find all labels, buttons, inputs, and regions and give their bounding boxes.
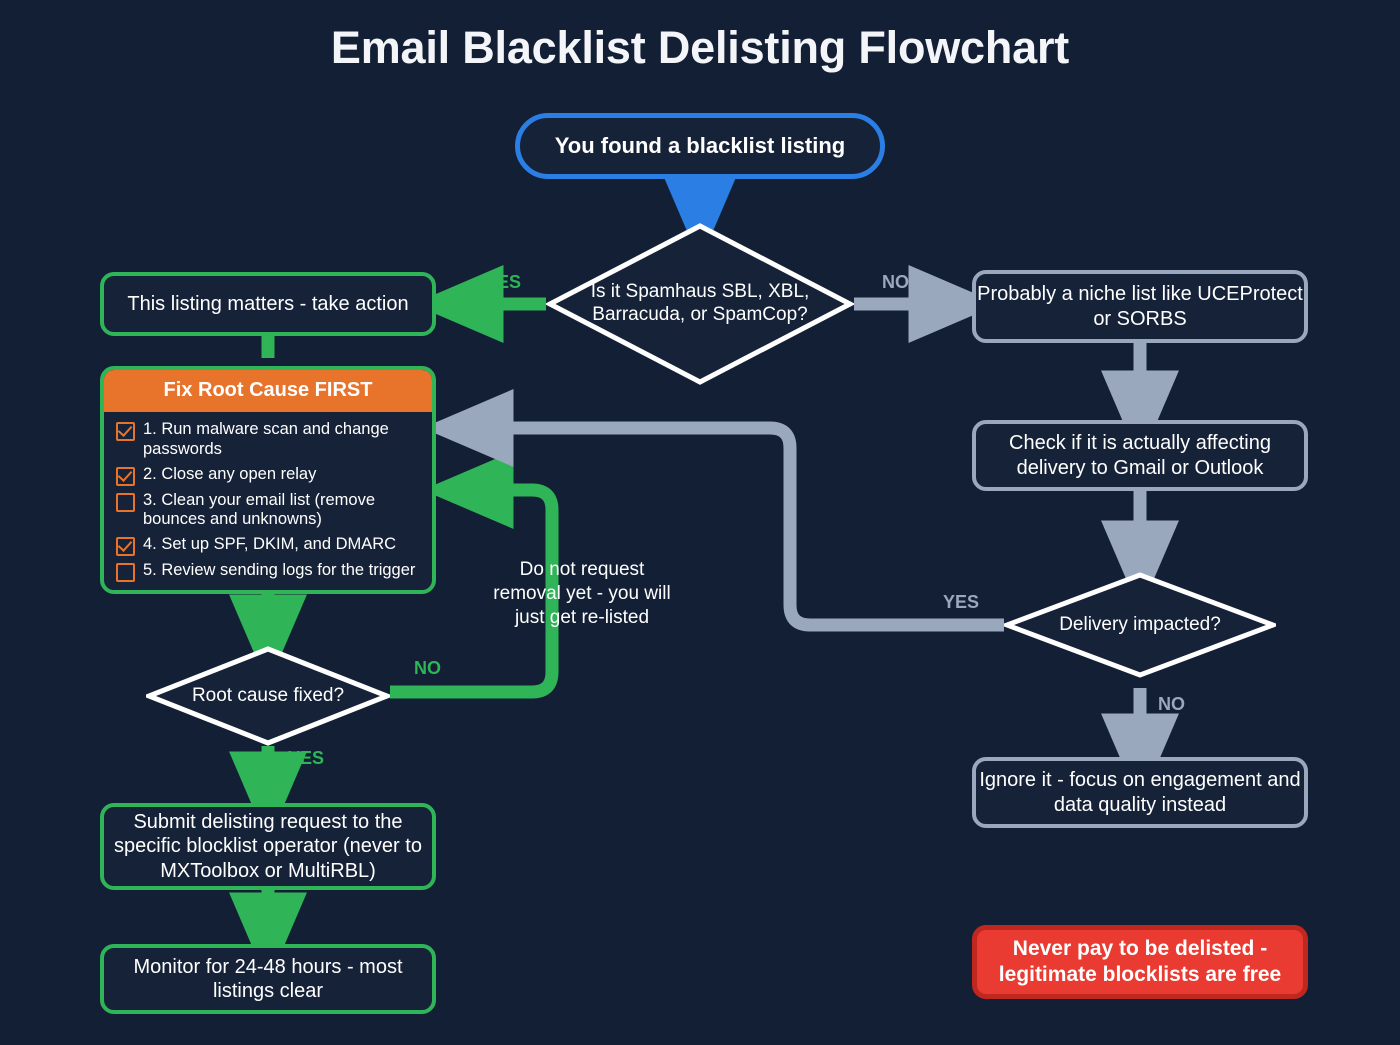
edge-label-delivery-yes: YES [943, 592, 979, 613]
node-monitor[interactable]: Monitor for 24-48 hours - most listings … [100, 944, 436, 1014]
checklist-item[interactable]: 5. Review sending logs for the trigger [116, 561, 422, 582]
node-warning-label: Never pay to be delisted - legitimate bl… [977, 936, 1303, 987]
node-niche-list[interactable]: Probably a niche list like UCEProtect or… [972, 270, 1308, 343]
checkbox-checked-icon[interactable] [116, 537, 135, 556]
decision-delivery-impacted[interactable]: Delivery impacted? [1004, 572, 1276, 678]
checkbox-unchecked-icon[interactable] [116, 493, 135, 512]
edge-label-major-yes: YES [485, 272, 521, 293]
node-submit-delisting[interactable]: Submit delisting request to the specific… [100, 803, 436, 890]
checkbox-unchecked-icon[interactable] [116, 563, 135, 582]
node-monitor-label: Monitor for 24-48 hours - most listings … [104, 955, 432, 1004]
edge-label-major-no: NO [882, 272, 909, 293]
node-start-label: You found a blacklist listing [555, 133, 846, 160]
edge-label-rootcause-no: NO [414, 658, 441, 679]
flowchart-canvas: Email Blacklist Delisting Flowchart [0, 0, 1400, 1045]
checklist-body: 1. Run malware scan and change passwords… [104, 412, 432, 594]
checklist-item[interactable]: 3. Clean your email list (remove bounces… [116, 491, 422, 531]
checkbox-checked-icon[interactable] [116, 467, 135, 486]
decision-root-cause[interactable]: Root cause fixed? [146, 646, 390, 746]
note-do-not-request: Do not request removal yet - you will ju… [432, 558, 732, 629]
node-warning-never-pay[interactable]: Never pay to be delisted - legitimate bl… [972, 925, 1308, 999]
checklist-item-label: 1. Run malware scan and change passwords [143, 420, 422, 460]
checklist-item[interactable]: 1. Run malware scan and change passwords [116, 420, 422, 460]
edge-label-delivery-no: NO [1158, 694, 1185, 715]
checkbox-checked-icon[interactable] [116, 422, 135, 441]
node-listing-matters-label: This listing matters - take action [127, 292, 408, 316]
node-submit-delisting-label: Submit delisting request to the specific… [104, 810, 432, 883]
decision-major-list[interactable]: Is it Spamhaus SBL, XBL, Barracuda, or S… [546, 222, 854, 386]
node-niche-list-label: Probably a niche list like UCEProtect or… [976, 282, 1304, 331]
checklist-item[interactable]: 2. Close any open relay [116, 465, 422, 486]
node-ignore-it-label: Ignore it - focus on engagement and data… [976, 768, 1304, 817]
checklist-item-label: 3. Clean your email list (remove bounces… [143, 491, 422, 531]
decision-major-list-label: Is it Spamhaus SBL, XBL, Barracuda, or S… [546, 222, 854, 386]
node-check-delivery-label: Check if it is actually affecting delive… [976, 431, 1304, 480]
checklist-header: Fix Root Cause FIRST [104, 370, 432, 412]
checklist-item-label: 4. Set up SPF, DKIM, and DMARC [143, 535, 422, 555]
edge-label-rootcause-yes: YES [288, 748, 324, 769]
decision-delivery-impacted-label: Delivery impacted? [1004, 572, 1276, 678]
checklist-item[interactable]: 4. Set up SPF, DKIM, and DMARC [116, 535, 422, 556]
decision-root-cause-label: Root cause fixed? [146, 646, 390, 746]
node-ignore-it[interactable]: Ignore it - focus on engagement and data… [972, 757, 1308, 828]
node-start[interactable]: You found a blacklist listing [515, 113, 885, 179]
checklist-item-label: 2. Close any open relay [143, 465, 422, 485]
page-title: Email Blacklist Delisting Flowchart [0, 22, 1400, 74]
checklist-item-label: 5. Review sending logs for the trigger [143, 561, 422, 581]
node-listing-matters[interactable]: This listing matters - take action [100, 272, 436, 336]
checklist-card[interactable]: Fix Root Cause FIRST 1. Run malware scan… [100, 366, 436, 594]
node-check-delivery[interactable]: Check if it is actually affecting delive… [972, 420, 1308, 491]
